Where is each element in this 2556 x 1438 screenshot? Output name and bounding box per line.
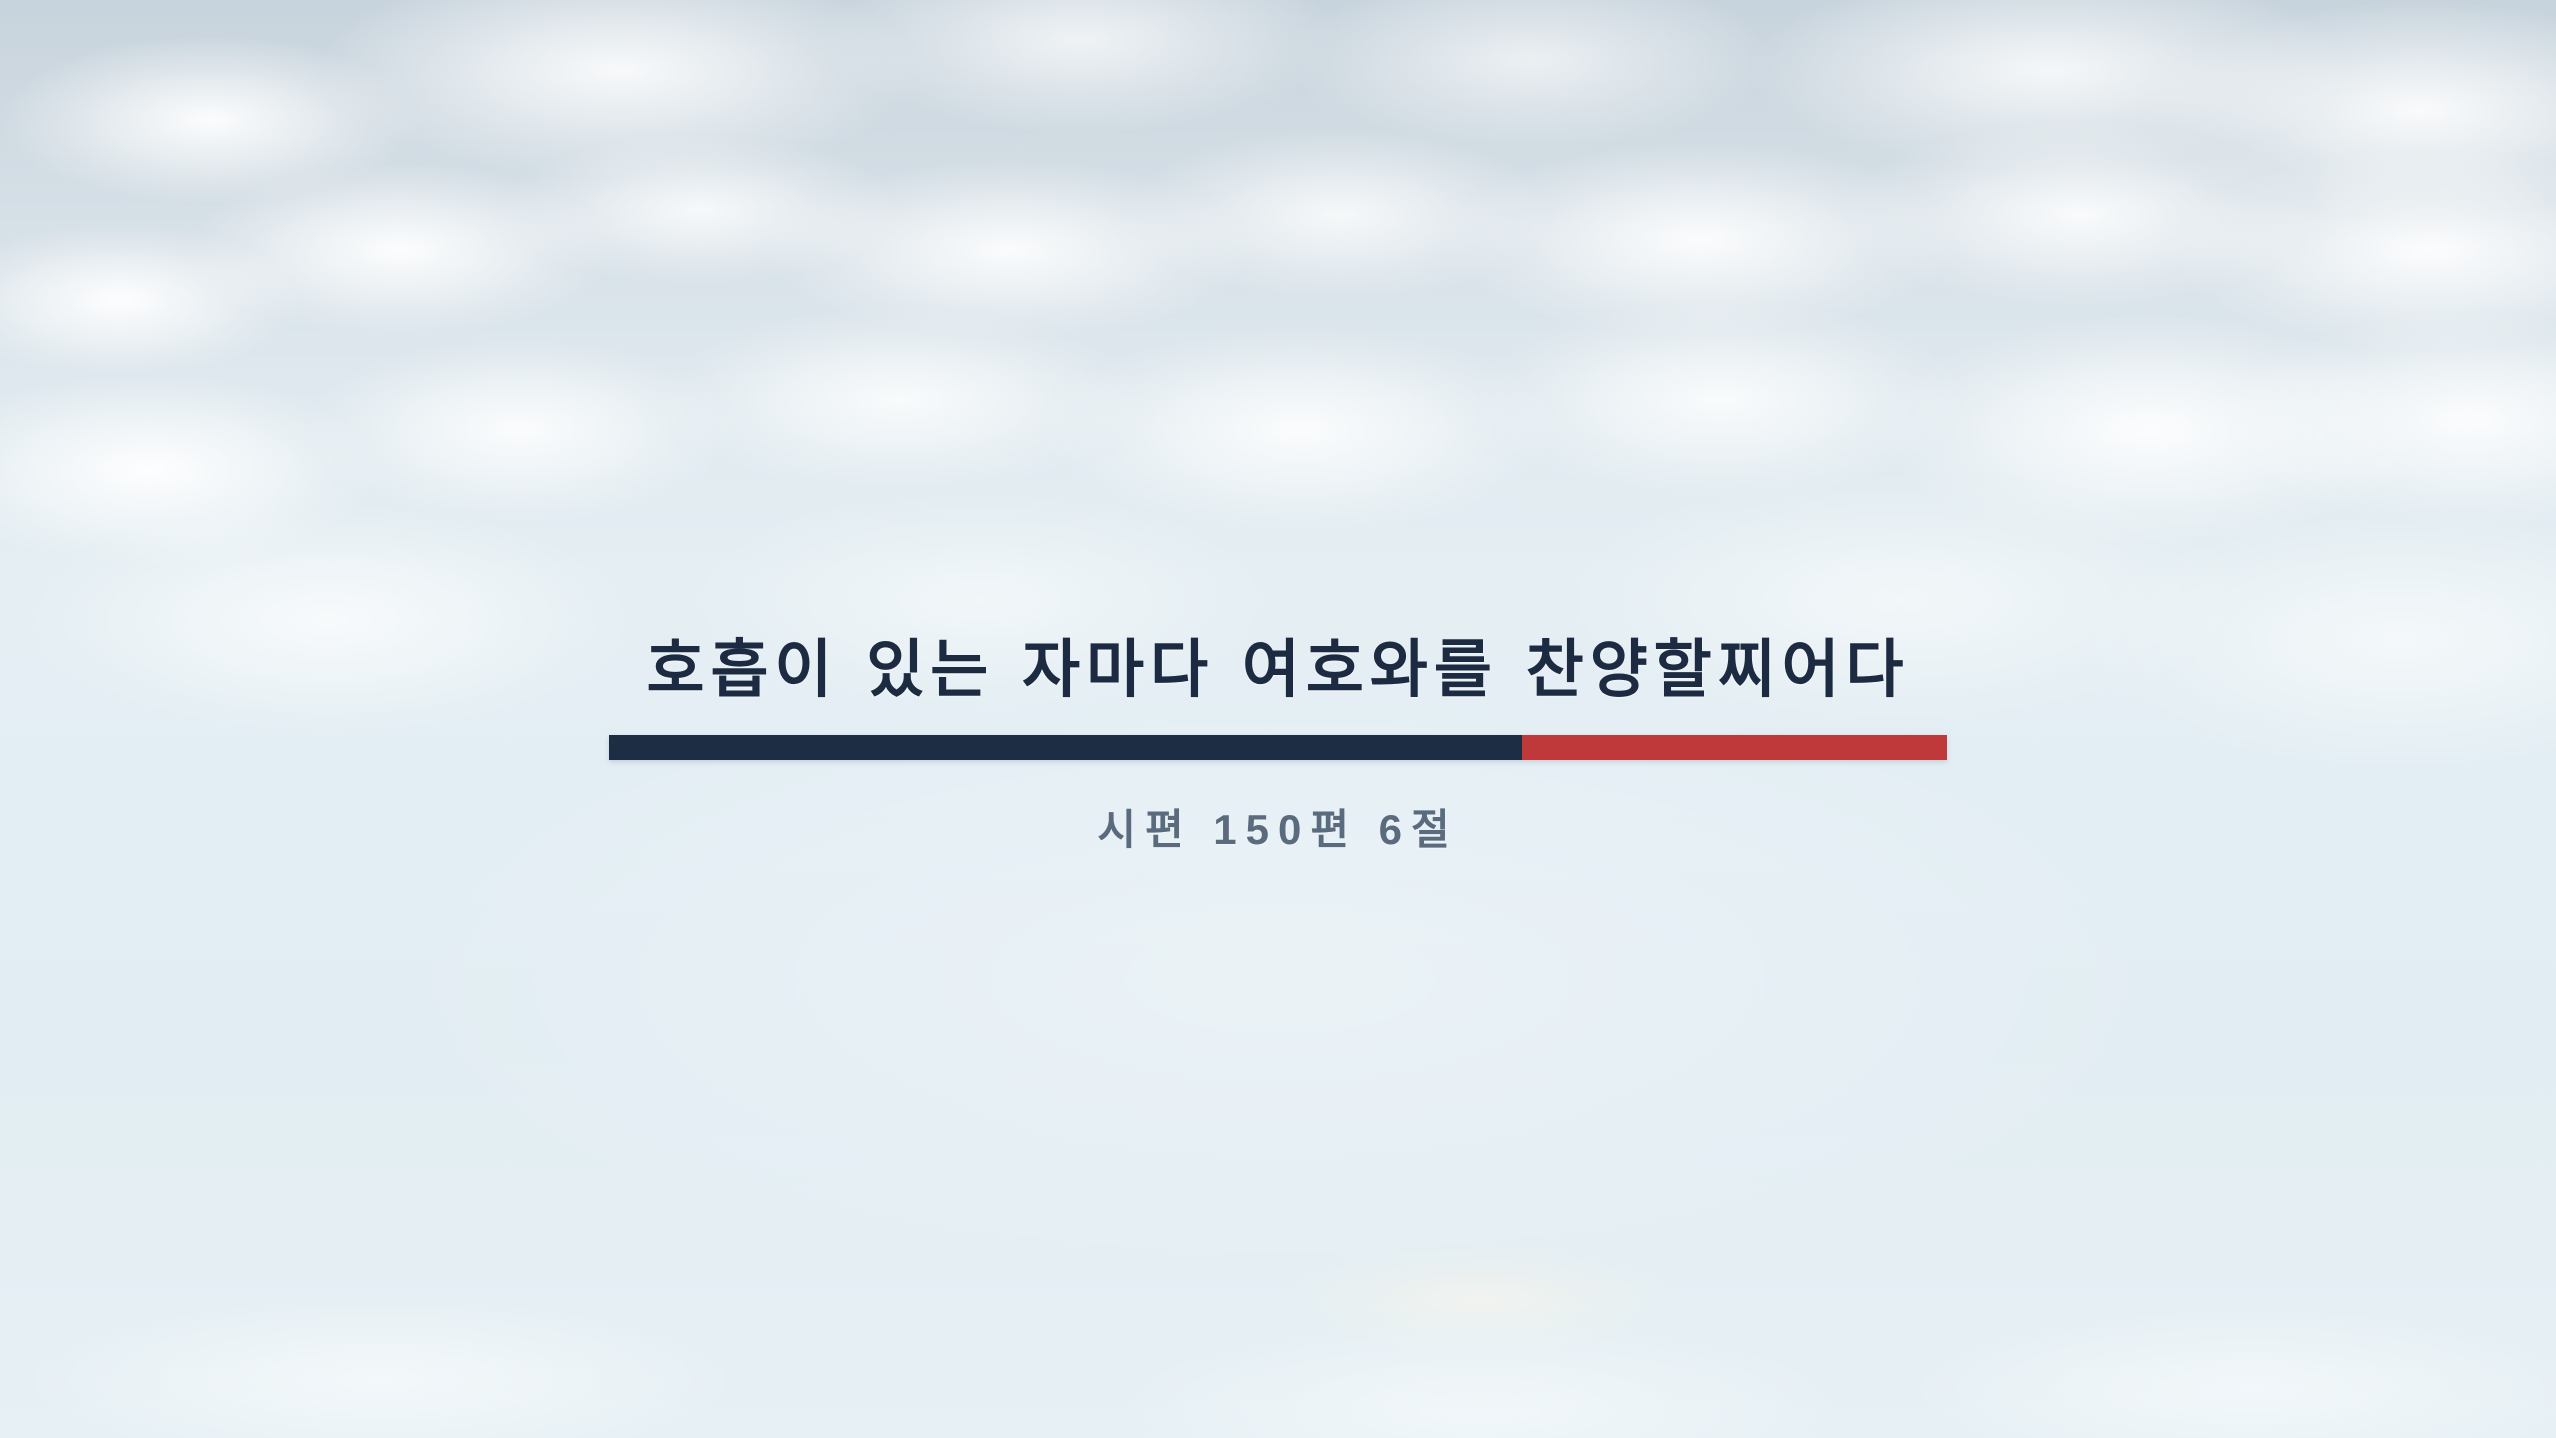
two-tone-divider-bar (609, 735, 1947, 760)
divider-navy-segment (609, 735, 1522, 760)
verse-title: 호흡이 있는 자마다 여호와를 찬양할찌어다 (0, 636, 2556, 702)
verse-content-block: 호흡이 있는 자마다 여호와를 찬양할찌어다 시편 150편 6절 (0, 636, 2556, 857)
verse-reference: 시편 150편 6절 (0, 796, 2556, 857)
scripture-slide: 호흡이 있는 자마다 여호와를 찬양할찌어다 시편 150편 6절 (0, 0, 2556, 1438)
divider-red-segment (1522, 735, 1947, 760)
